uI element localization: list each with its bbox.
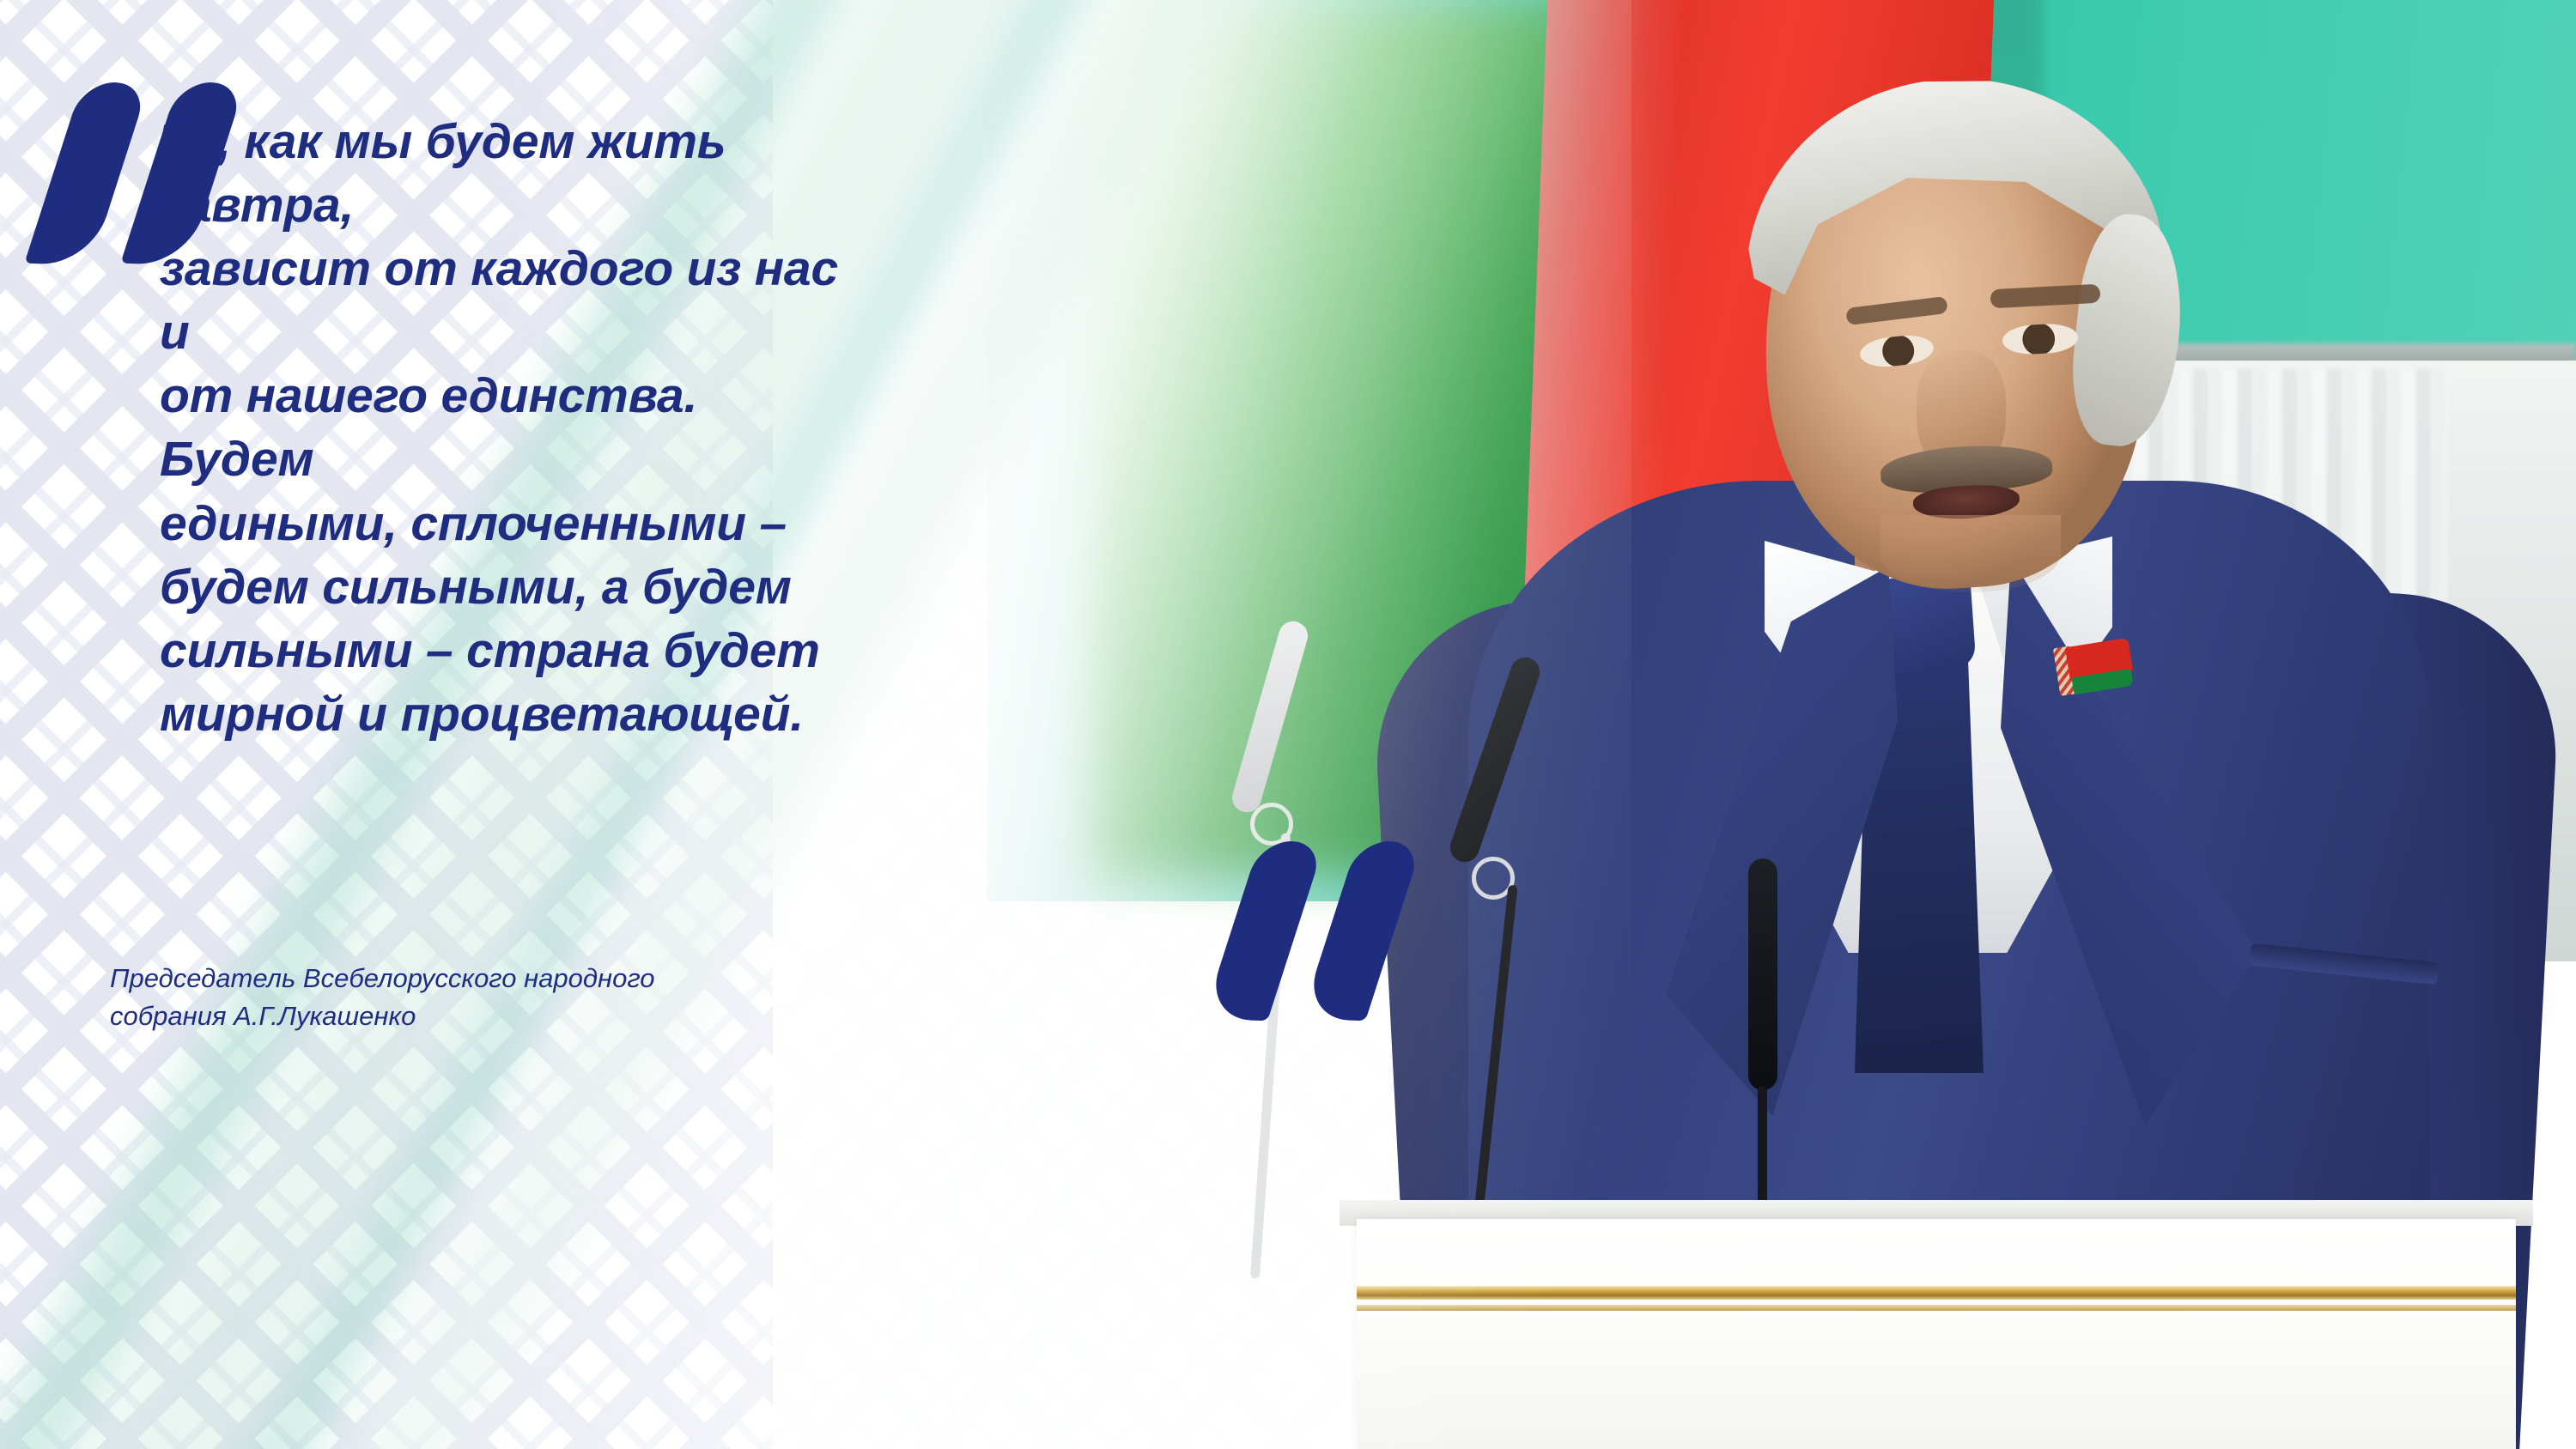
quote-attribution: Председатель Всебелорусского народного с… bbox=[110, 960, 883, 1035]
close-quote-mark bbox=[1231, 841, 1420, 1030]
quote-text: То, как мы будем жить завтра, зависит от… bbox=[160, 110, 838, 746]
podium-gold-trim-2 bbox=[1357, 1305, 2516, 1311]
quote-card: То, как мы будем жить завтра, зависит от… bbox=[0, 0, 2576, 1449]
podium bbox=[1357, 1219, 2516, 1449]
chin bbox=[1880, 515, 2061, 592]
microphone-black-1 bbox=[1468, 652, 1528, 1270]
podium-gold-trim bbox=[1357, 1286, 2516, 1300]
speaker-photo bbox=[987, 0, 2576, 1449]
